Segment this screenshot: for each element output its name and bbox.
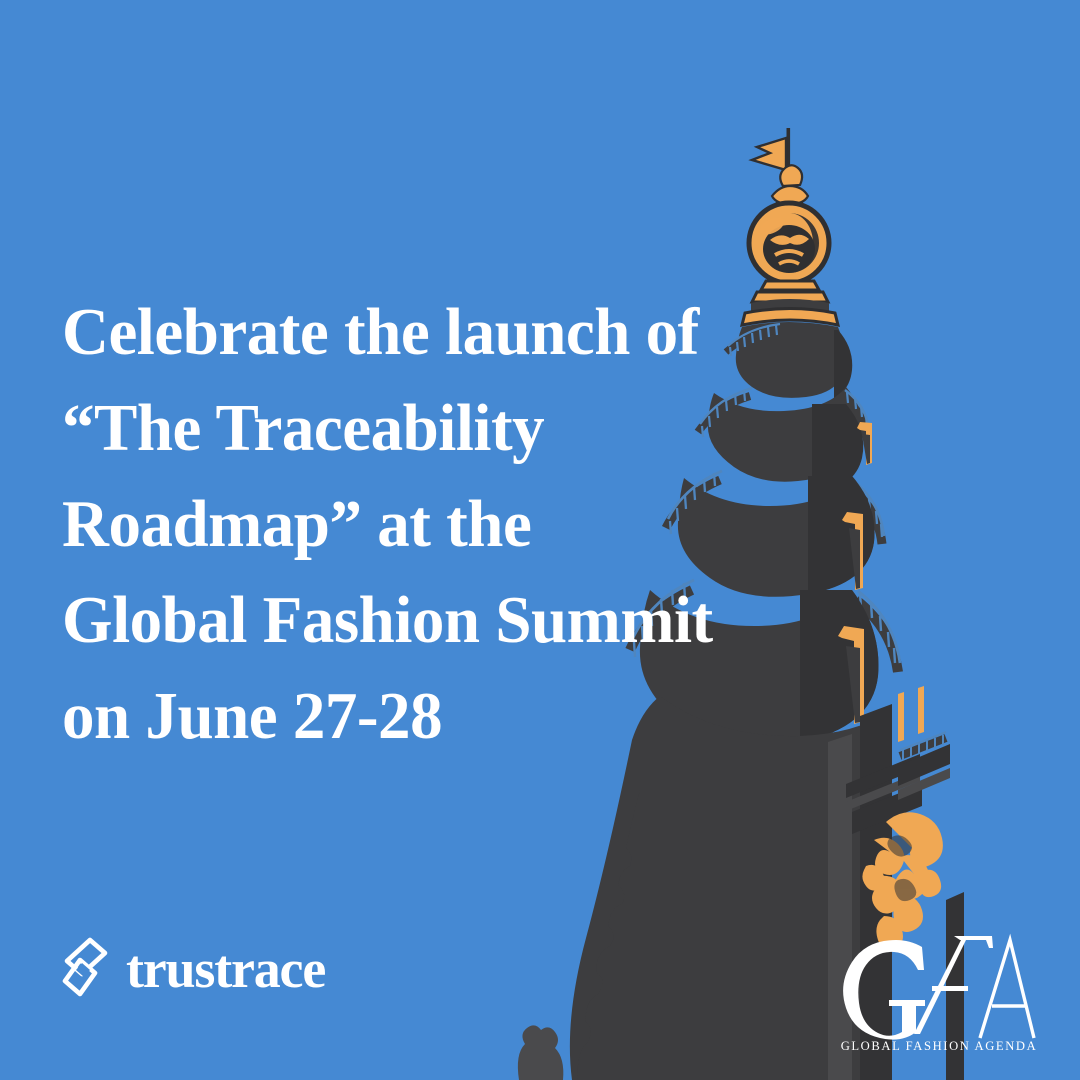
gfa-letter-a xyxy=(980,940,1034,1038)
gfa-letter-g xyxy=(843,940,925,1040)
gfa-tagline-text: GLOBAL FASHION AGENDA xyxy=(841,1039,1038,1053)
interlocking-chain-links-icon xyxy=(60,936,110,998)
trustrace-logo[interactable]: trustrace xyxy=(60,936,325,998)
headline: Celebrate the launch of “The Traceabilit… xyxy=(62,284,852,764)
headline-line-4: Global Fashion Summit xyxy=(62,572,828,668)
promo-graphic: Celebrate the launch of “The Traceabilit… xyxy=(0,0,1080,1080)
headline-line-1: Celebrate the launch of xyxy=(62,284,828,380)
gfa-logo[interactable]: GLOBAL FASHION AGENDA GLOBAL FASHION AGE… xyxy=(834,914,1044,1054)
headline-line-2: “The Traceability xyxy=(62,380,828,476)
trustrace-wordmark: trustrace xyxy=(126,942,325,996)
gfa-letter-f xyxy=(914,936,993,1034)
gfa-monogram: GLOBAL FASHION AGENDA xyxy=(834,914,1044,1054)
headline-line-3: Roadmap” at the xyxy=(62,476,828,572)
headline-line-5: on June 27-28 xyxy=(62,668,828,764)
